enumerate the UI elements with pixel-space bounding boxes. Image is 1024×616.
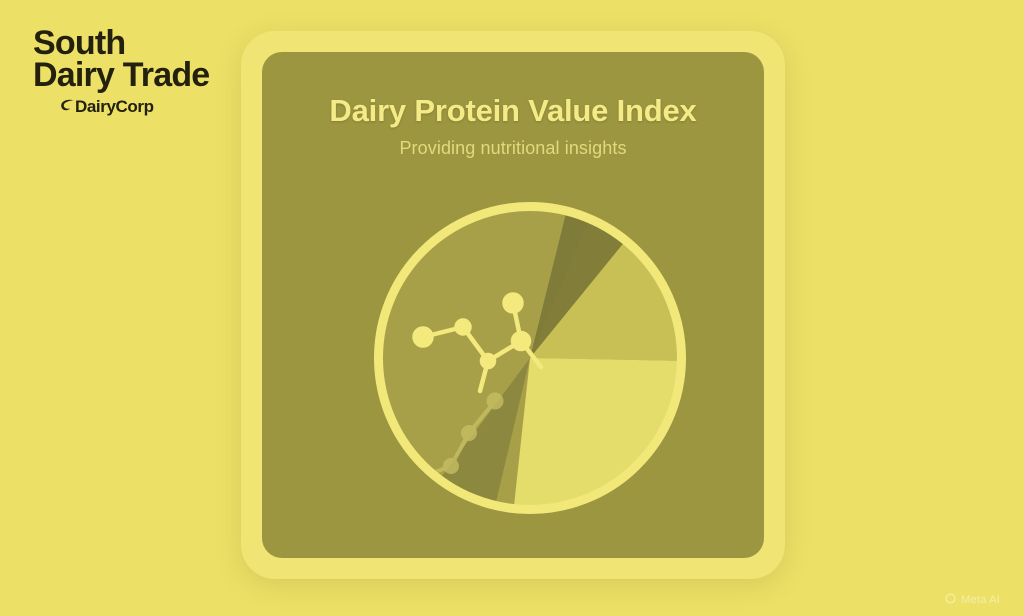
brand-subbrand: DairyCorp	[60, 96, 263, 116]
page-title: Dairy Protein Value Index	[262, 94, 764, 128]
leaf-icon	[60, 96, 75, 116]
poster-frame: Dairy Protein Value Index Providing nutr…	[241, 31, 785, 579]
meta-circle-icon	[945, 591, 956, 609]
watermark-label: Meta AI	[961, 594, 1000, 606]
brand-title-line-1: South	[33, 28, 263, 60]
protein-value-pie-chart	[373, 201, 687, 515]
brand-title-line-2: Dairy Trade	[33, 60, 263, 92]
poster-card: Dairy Protein Value Index Providing nutr…	[262, 52, 764, 558]
meta-ai-watermark: Meta AI	[945, 591, 1000, 609]
page-subtitle: Providing nutritional insights	[262, 138, 764, 159]
poster-heading: Dairy Protein Value Index Providing nutr…	[262, 94, 764, 159]
brand-lockup: South Dairy Trade DairyCorp	[33, 28, 263, 116]
brand-subbrand-label: DairyCorp	[75, 98, 154, 115]
